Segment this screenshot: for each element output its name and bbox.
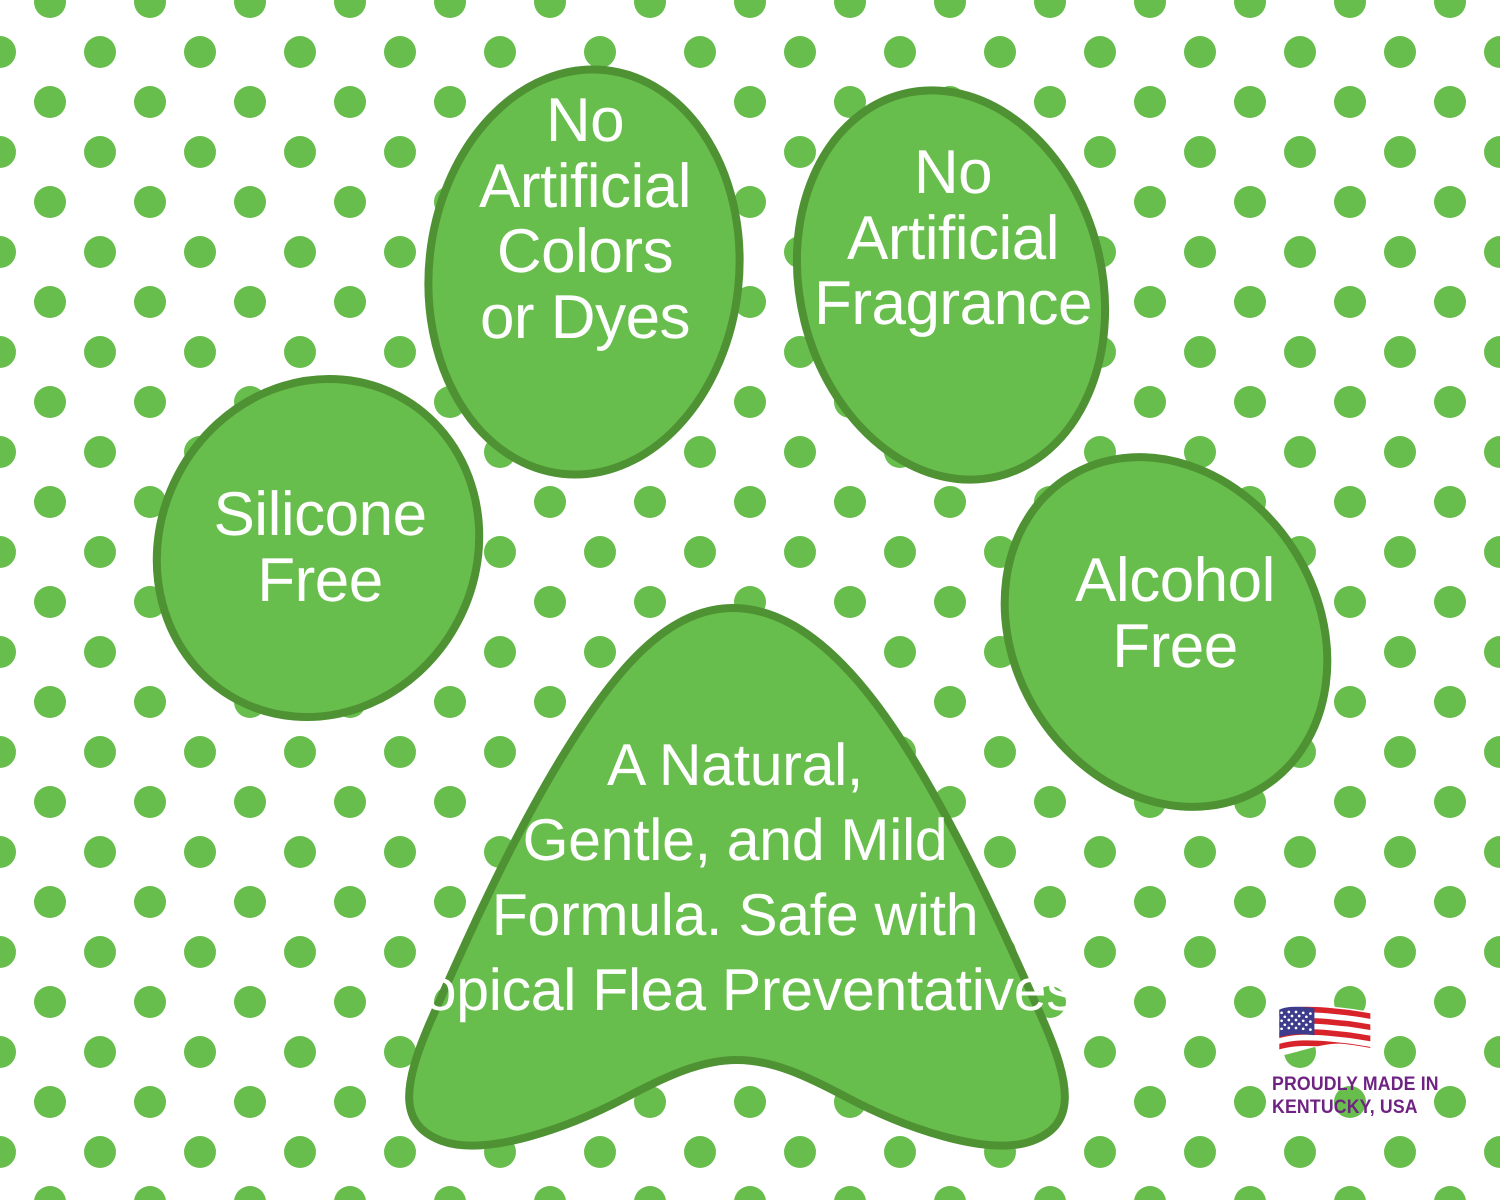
made-in-usa-label: PROUDLY MADE IN KENTUCKY, USA [1272,1073,1445,1119]
paw-main-pad [409,608,1065,1146]
proudly-made-in-usa-badge: PROUDLY MADE IN KENTUCKY, USA [1272,1003,1458,1119]
poster-canvas: No Artificial Colors or Dyes No Artifici… [0,0,1500,1200]
paw-toe-fragrance [757,57,1145,512]
paw-toe-colors [409,54,760,490]
usa-flag-icon [1276,1003,1372,1061]
